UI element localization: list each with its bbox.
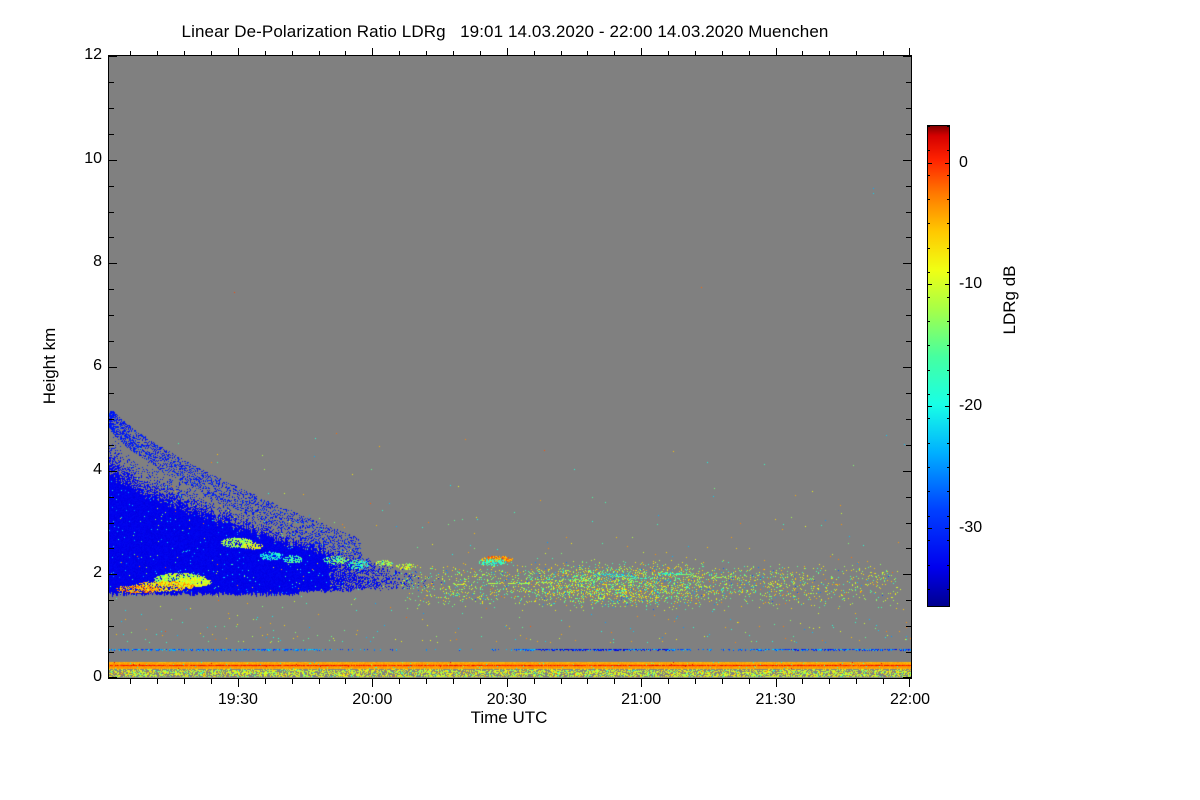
colorbar-tick-minor: [927, 394, 930, 395]
x-tick-minor-top: [292, 51, 293, 56]
x-tick-label: 21:30: [756, 691, 796, 709]
colorbar-tick-minor: [927, 345, 930, 346]
y-tick-major: [903, 160, 911, 161]
x-tick-minor-top: [534, 51, 535, 56]
colorbar-tick-minor: [927, 223, 930, 224]
colorbar-label-holder: LDRg dB: [1000, 300, 1020, 320]
colorbar-tick-minor: [927, 126, 930, 127]
x-tick-major-top: [776, 48, 777, 56]
colorbar-tick-minor: [927, 565, 930, 566]
colorbar-ticks: 0-10-20-30: [927, 125, 950, 607]
x-tick-minor-top: [829, 51, 830, 56]
x-tick-major-top: [909, 48, 910, 56]
colorbar-tick-minor: [927, 491, 930, 492]
x-tick-minor: [668, 679, 669, 684]
y-axis-label: Height km: [40, 328, 60, 405]
colorbar-tick-minor: [947, 223, 950, 224]
y-tick-minor: [906, 626, 911, 627]
x-tick-major-top: [238, 48, 239, 56]
y-tick-minor: [906, 186, 911, 187]
x-tick-minor: [614, 679, 615, 684]
y-tick-major: [109, 677, 117, 678]
x-tick-minor: [829, 679, 830, 684]
x-tick-minor: [453, 679, 454, 684]
x-tick-minor-top: [157, 51, 158, 56]
x-tick-minor: [749, 679, 750, 684]
x-tick-minor-top: [668, 51, 669, 56]
y-tick-minor: [906, 108, 911, 109]
colorbar-tick: [927, 406, 932, 407]
y-tick-major: [109, 574, 117, 575]
y-tick-minor: [109, 548, 114, 549]
colorbar-tick: [945, 406, 950, 407]
x-tick-minor: [292, 679, 293, 684]
x-tick-minor-top: [614, 51, 615, 56]
chart-root: Linear De-Polarization Ratio LDRg 19:01 …: [0, 0, 1200, 800]
x-tick-major: [372, 679, 373, 687]
y-tick-minor: [906, 315, 911, 316]
y-tick-minor: [906, 289, 911, 290]
y-tick-major: [903, 471, 911, 472]
colorbar-tick-label: -20: [959, 397, 982, 415]
x-tick-minor: [856, 679, 857, 684]
y-tick-major: [903, 677, 911, 678]
colorbar-tick-minor: [927, 297, 930, 298]
x-tick-major: [641, 679, 642, 687]
x-tick-minor: [426, 679, 427, 684]
y-tick-label: 6: [68, 357, 102, 375]
colorbar-tick-minor: [927, 175, 930, 176]
x-tick-minor: [695, 679, 696, 684]
colorbar-tick-minor: [947, 175, 950, 176]
x-tick-major: [507, 679, 508, 687]
colorbar-tick-minor: [947, 297, 950, 298]
colorbar-tick-minor: [927, 516, 930, 517]
x-tick-minor: [587, 679, 588, 684]
y-tick-major: [109, 367, 117, 368]
x-tick-minor-top: [265, 51, 266, 56]
x-tick-minor: [883, 679, 884, 684]
colorbar-tick-minor: [947, 394, 950, 395]
y-tick-minor: [109, 315, 114, 316]
y-tick-major: [109, 471, 117, 472]
y-tick-minor: [906, 134, 911, 135]
x-tick-major: [238, 679, 239, 687]
y-tick-major: [903, 367, 911, 368]
x-tick-minor: [157, 679, 158, 684]
x-tick-minor-top: [426, 51, 427, 56]
y-tick-major: [903, 56, 911, 57]
y-axis-tick-labels: 024681012: [62, 55, 102, 677]
x-tick-label: 20:00: [352, 691, 392, 709]
y-tick-major: [109, 160, 117, 161]
x-tick-major-top: [372, 48, 373, 56]
colorbar-tick-label: -30: [959, 519, 982, 537]
colorbar-tick-minor: [947, 516, 950, 517]
y-tick-minor: [109, 108, 114, 109]
y-tick-minor: [109, 523, 114, 524]
y-axis-ticks-left: [109, 56, 119, 678]
colorbar-tick-minor: [947, 126, 950, 127]
colorbar-tick-minor: [947, 150, 950, 151]
x-tick-minor-top: [399, 51, 400, 56]
y-tick-major: [903, 263, 911, 264]
x-tick-minor: [265, 679, 266, 684]
y-tick-minor: [109, 497, 114, 498]
y-tick-minor: [109, 626, 114, 627]
y-tick-minor: [109, 393, 114, 394]
colorbar-tick-minor: [947, 248, 950, 249]
x-tick-minor: [211, 679, 212, 684]
x-tick-minor-top: [587, 51, 588, 56]
colorbar-tick-minor: [947, 418, 950, 419]
y-tick-minor: [906, 82, 911, 83]
x-tick-minor: [722, 679, 723, 684]
colorbar-tick-minor: [927, 467, 930, 468]
y-tick-minor: [109, 419, 114, 420]
y-tick-major: [109, 56, 117, 57]
y-tick-minor: [906, 419, 911, 420]
y-tick-minor: [906, 548, 911, 549]
y-tick-minor: [906, 393, 911, 394]
x-tick-minor-top: [480, 51, 481, 56]
colorbar-tick-minor: [947, 565, 950, 566]
x-tick-minor-top: [345, 51, 346, 56]
y-axis-label-holder: Height km: [40, 366, 60, 386]
x-tick-minor: [561, 679, 562, 684]
colorbar-tick-minor: [947, 345, 950, 346]
colorbar-tick-minor: [927, 321, 930, 322]
y-tick-minor: [109, 212, 114, 213]
colorbar-tick-minor: [927, 199, 930, 200]
x-tick-major-top: [641, 48, 642, 56]
y-tick-minor: [109, 237, 114, 238]
x-tick-label: 21:00: [621, 691, 661, 709]
colorbar-tick-minor: [947, 491, 950, 492]
y-tick-label: 2: [68, 564, 102, 582]
colorbar-tick-minor: [947, 370, 950, 371]
x-axis-label: Time UTC: [108, 708, 910, 728]
x-tick-label: 22:00: [890, 691, 930, 709]
colorbar-tick: [945, 284, 950, 285]
x-tick-minor: [399, 679, 400, 684]
colorbar-tick-minor: [947, 540, 950, 541]
y-tick-label: 8: [68, 253, 102, 271]
y-tick-minor: [109, 652, 114, 653]
colorbar-tick-minor: [927, 150, 930, 151]
x-tick-minor: [319, 679, 320, 684]
y-tick-minor: [906, 237, 911, 238]
y-tick-label: 12: [68, 46, 102, 64]
colorbar-label: LDRg dB: [1000, 266, 1020, 335]
y-tick-minor: [906, 600, 911, 601]
x-tick-minor-top: [802, 51, 803, 56]
y-tick-label: 10: [68, 150, 102, 168]
x-tick-minor-top: [453, 51, 454, 56]
x-tick-minor-top: [856, 51, 857, 56]
y-tick-minor: [109, 600, 114, 601]
x-tick-minor-top: [561, 51, 562, 56]
x-tick-label: 20:30: [487, 691, 527, 709]
heatmap-canvas: [109, 56, 911, 678]
y-tick-major: [903, 574, 911, 575]
y-tick-major: [109, 263, 117, 264]
y-tick-minor: [906, 445, 911, 446]
x-tick-minor: [802, 679, 803, 684]
x-tick-minor: [184, 679, 185, 684]
colorbar-tick-minor: [947, 321, 950, 322]
colorbar-tick: [945, 163, 950, 164]
colorbar-tick-minor: [927, 272, 930, 273]
x-tick-major: [909, 679, 910, 687]
y-tick-minor: [109, 445, 114, 446]
x-tick-major: [776, 679, 777, 687]
y-tick-minor: [109, 186, 114, 187]
colorbar-tick-minor: [927, 248, 930, 249]
y-tick-minor: [109, 341, 114, 342]
colorbar-tick-minor: [947, 199, 950, 200]
x-tick-minor-top: [184, 51, 185, 56]
x-tick-minor-top: [130, 51, 131, 56]
y-tick-minor: [906, 652, 911, 653]
x-tick-major-top: [507, 48, 508, 56]
x-tick-minor-top: [319, 51, 320, 56]
y-tick-minor: [906, 523, 911, 524]
x-tick-minor-top: [695, 51, 696, 56]
colorbar-tick-label: 0: [959, 154, 968, 172]
x-tick-minor-top: [211, 51, 212, 56]
y-tick-minor: [109, 134, 114, 135]
colorbar-tick: [927, 163, 932, 164]
page-title: Linear De-Polarization Ratio LDRg 19:01 …: [0, 22, 1010, 42]
x-tick-minor: [534, 679, 535, 684]
colorbar-tick-minor: [927, 443, 930, 444]
colorbar-tick-minor: [927, 418, 930, 419]
colorbar-tick: [945, 528, 950, 529]
colorbar-tick: [927, 528, 932, 529]
y-tick-label: 0: [68, 668, 102, 686]
y-tick-minor: [109, 289, 114, 290]
x-tick-minor-top: [722, 51, 723, 56]
x-tick-minor: [480, 679, 481, 684]
x-tick-minor-top: [883, 51, 884, 56]
x-tick-minor: [345, 679, 346, 684]
colorbar-tick-minor: [927, 540, 930, 541]
colorbar-tick-minor: [947, 589, 950, 590]
y-tick-minor: [906, 497, 911, 498]
y-tick-minor: [906, 341, 911, 342]
y-axis-ticks-right: [901, 56, 911, 678]
x-tick-label: 19:30: [218, 691, 258, 709]
x-tick-minor: [130, 679, 131, 684]
colorbar-tick-minor: [927, 589, 930, 590]
colorbar-tick-minor: [947, 272, 950, 273]
y-tick-label: 4: [68, 461, 102, 479]
y-tick-minor: [906, 212, 911, 213]
colorbar-tick-label: -10: [959, 275, 982, 293]
plot-area: [108, 55, 912, 679]
colorbar-tick: [927, 284, 932, 285]
x-axis-ticks-top: [108, 48, 910, 56]
colorbar-tick-minor: [927, 370, 930, 371]
colorbar-tick-minor: [947, 443, 950, 444]
colorbar-tick-minor: [947, 467, 950, 468]
y-tick-minor: [109, 82, 114, 83]
x-tick-minor-top: [749, 51, 750, 56]
